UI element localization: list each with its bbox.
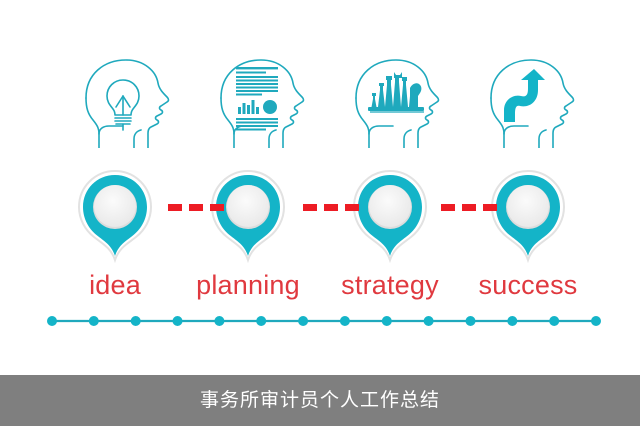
head-icon-row <box>0 52 640 148</box>
caption-bar: 事务所审计员个人工作总结 <box>0 375 640 426</box>
step-pin-success[interactable] <box>476 160 580 270</box>
dash-segment <box>189 204 203 211</box>
pin-row <box>0 160 640 270</box>
head-arrow-up-icon <box>473 52 583 148</box>
step-pin-idea[interactable] <box>63 160 167 270</box>
step-label-row: idea planning strategy success <box>0 268 640 306</box>
caption-text: 事务所审计员个人工作总结 <box>200 375 440 426</box>
dash-segment <box>324 204 338 211</box>
dash-segment <box>441 204 455 211</box>
dash-segment <box>210 204 224 211</box>
dash-segment <box>462 204 476 211</box>
step-pin-planning[interactable] <box>196 160 300 270</box>
head-lightbulb-icon <box>68 52 178 148</box>
dash-segment <box>483 204 497 211</box>
connector-dashes-2 <box>303 204 359 211</box>
connector-dashes-1 <box>168 204 224 211</box>
head-chess-icon <box>338 52 448 148</box>
dotted-baseline <box>46 314 602 328</box>
dash-segment <box>168 204 182 211</box>
step-label-success: success <box>443 268 613 302</box>
connector-dashes-3 <box>441 204 497 211</box>
slide-canvas: idea planning strategy success <box>0 0 640 426</box>
head-report-chart-icon <box>203 52 313 148</box>
step-pin-strategy[interactable] <box>338 160 442 270</box>
dash-segment <box>303 204 317 211</box>
dash-segment <box>345 204 359 211</box>
